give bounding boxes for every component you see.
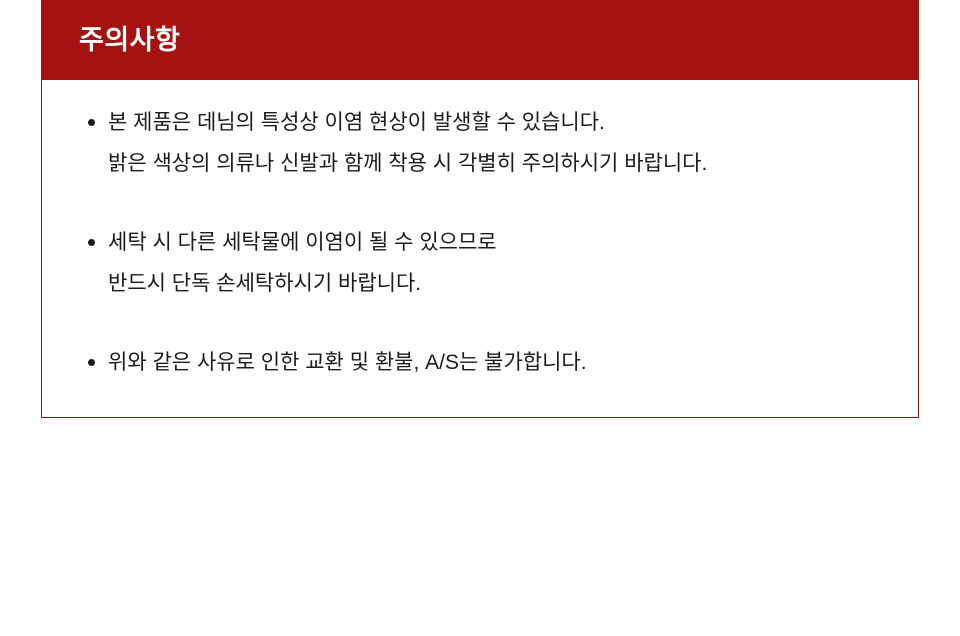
notice-body: 본 제품은 데님의 특성상 이염 현상이 발생할 수 있습니다. 밝은 색상의 … — [41, 80, 919, 418]
list-item-line: 밝은 색상의 의류나 신발과 함께 착용 시 각별히 주의하시기 바랍니다. — [108, 143, 918, 184]
page-title: 주의사항 — [79, 27, 180, 54]
list-item-line: 세탁 시 다른 세탁물에 이염이 될 수 있으므로 — [108, 222, 918, 263]
list-item-line: 본 제품은 데님의 특성상 이염 현상이 발생할 수 있습니다. — [108, 102, 918, 143]
bullet-dot-icon — [88, 239, 95, 246]
bullet-dot-icon — [88, 359, 95, 366]
list-item: 본 제품은 데님의 특성상 이염 현상이 발생할 수 있습니다. 밝은 색상의 … — [42, 80, 918, 184]
notice-header: 주의사항 — [41, 0, 919, 80]
notice-card: 주의사항 본 제품은 데님의 특성상 이염 현상이 발생할 수 있습니다. 밝은… — [41, 0, 919, 418]
bullet-dot-icon — [88, 119, 95, 126]
list-item: 세탁 시 다른 세탁물에 이염이 될 수 있으므로 반드시 단독 손세탁하시기 … — [42, 184, 918, 304]
list-item-line: 위와 같은 사유로 인한 교환 및 환불, A/S는 불가합니다. — [108, 342, 918, 383]
list-item-line: 반드시 단독 손세탁하시기 바랍니다. — [108, 263, 918, 304]
list-item: 위와 같은 사유로 인한 교환 및 환불, A/S는 불가합니다. — [42, 304, 918, 383]
notice-bullet-list: 본 제품은 데님의 특성상 이염 현상이 발생할 수 있습니다. 밝은 색상의 … — [42, 80, 918, 383]
